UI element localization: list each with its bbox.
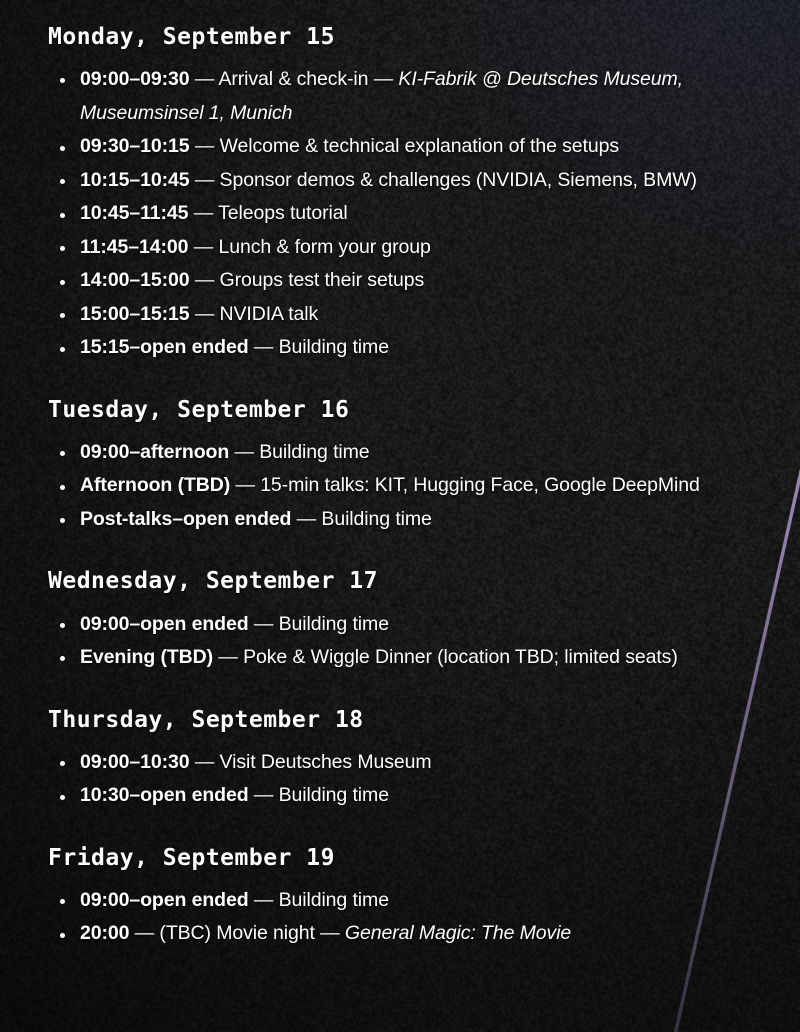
day-section-friday: Friday, September 19 09:00–open ended — … (48, 843, 766, 951)
item-text: NVIDIA talk (220, 303, 319, 325)
item-separator: — (188, 236, 218, 258)
list-item: 09:00–10:30 — Visit Deutsches Museum (48, 746, 766, 780)
day-section-wednesday: Wednesday, September 17 09:00–open ended… (48, 566, 766, 674)
item-time: 09:00–open ended (80, 889, 249, 911)
item-text: Groups test their setups (220, 269, 425, 291)
item-time: 09:00–open ended (80, 613, 249, 635)
item-text: Teleops tutorial (218, 202, 348, 224)
list-item: 09:00–open ended — Building time (48, 884, 766, 918)
list-item: 09:30–10:15 — Welcome & technical explan… (48, 130, 766, 164)
item-separator: — (249, 336, 279, 358)
day-items-list: 09:00–10:30 — Visit Deutsches Museum 10:… (48, 746, 766, 813)
item-separator: — (190, 68, 219, 90)
item-time: 09:00–10:30 (80, 751, 190, 773)
item-time: 09:00–09:30 (80, 68, 190, 90)
day-items-list: 09:00–afternoon — Building time Afternoo… (48, 436, 766, 537)
list-item: 09:00–afternoon — Building time (48, 436, 766, 470)
day-items-list: 09:00–open ended — Building time Evening… (48, 608, 766, 675)
day-section-tuesday: Tuesday, September 16 09:00–afternoon — … (48, 395, 766, 537)
item-time: 09:30–10:15 (80, 135, 190, 157)
list-item: 10:45–11:45 — Teleops tutorial (48, 197, 766, 231)
item-time: 10:15–10:45 (80, 169, 190, 191)
item-text: Building time (279, 613, 389, 635)
item-text: Sponsor demos & challenges (NVIDIA, Siem… (220, 169, 697, 191)
item-text: Visit Deutsches Museum (220, 751, 432, 773)
item-text: Building time (259, 441, 369, 463)
list-item: Evening (TBD) — Poke & Wiggle Dinner (lo… (48, 641, 766, 675)
item-separator: — (190, 169, 220, 191)
item-text: Poke & Wiggle Dinner (location TBD; limi… (243, 646, 678, 668)
day-heading: Friday, September 19 (48, 843, 766, 874)
item-text: (TBC) Movie night — (159, 922, 344, 944)
item-time: Post-talks–open ended (80, 508, 291, 530)
item-separator: — (213, 646, 243, 668)
list-item: 10:30–open ended — Building time (48, 779, 766, 813)
list-item: 20:00 — (TBC) Movie night — General Magi… (48, 917, 766, 951)
list-item: 09:00–09:30 — Arrival & check-in — KI-Fa… (48, 63, 766, 130)
schedule-content: Monday, September 15 09:00–09:30 — Arriv… (0, 0, 800, 951)
day-items-list: 09:00–open ended — Building time 20:00 —… (48, 884, 766, 951)
day-section-monday: Monday, September 15 09:00–09:30 — Arriv… (48, 22, 766, 365)
item-time: 10:30–open ended (80, 784, 249, 806)
item-separator: — (190, 269, 220, 291)
item-time: 15:15–open ended (80, 336, 249, 358)
item-text: Building time (279, 784, 389, 806)
day-heading: Thursday, September 18 (48, 705, 766, 736)
list-item: 10:15–10:45 — Sponsor demos & challenges… (48, 164, 766, 198)
day-heading: Wednesday, September 17 (48, 566, 766, 597)
item-separator: — (129, 922, 159, 944)
item-separator: — (190, 751, 220, 773)
item-time: Evening (TBD) (80, 646, 213, 668)
item-text: 15-min talks: KIT, Hugging Face, Google … (260, 474, 700, 496)
item-time: 14:00–15:00 (80, 269, 190, 291)
item-text: Building time (279, 336, 389, 358)
list-item: 15:15–open ended — Building time (48, 331, 766, 365)
item-separator: — (249, 613, 279, 635)
item-separator: — (249, 889, 279, 911)
item-separator: — (230, 474, 260, 496)
item-time: 15:00–15:15 (80, 303, 190, 325)
item-text: Arrival & check-in — (218, 68, 398, 90)
item-emphasis: General Magic: The Movie (345, 922, 571, 944)
item-text: Building time (279, 889, 389, 911)
item-separator: — (190, 303, 220, 325)
item-separator: — (188, 202, 218, 224)
item-time: Afternoon (TBD) (80, 474, 230, 496)
day-heading: Monday, September 15 (48, 22, 766, 53)
item-separator: — (249, 784, 279, 806)
item-time: 20:00 (80, 922, 129, 944)
item-time: 10:45–11:45 (80, 202, 188, 224)
item-separator: — (291, 508, 321, 530)
list-item: 11:45–14:00 — Lunch & form your group (48, 231, 766, 265)
list-item: Afternoon (TBD) — 15-min talks: KIT, Hug… (48, 469, 766, 503)
item-time: 09:00–afternoon (80, 441, 229, 463)
list-item: 09:00–open ended — Building time (48, 608, 766, 642)
item-separator: — (190, 135, 220, 157)
item-separator: — (229, 441, 259, 463)
item-text: Building time (321, 508, 431, 530)
list-item: 15:00–15:15 — NVIDIA talk (48, 298, 766, 332)
day-heading: Tuesday, September 16 (48, 395, 766, 426)
item-text: Welcome & technical explanation of the s… (220, 135, 619, 157)
day-items-list: 09:00–09:30 — Arrival & check-in — KI-Fa… (48, 63, 766, 365)
list-item: 14:00–15:00 — Groups test their setups (48, 264, 766, 298)
list-item: Post-talks–open ended — Building time (48, 503, 766, 537)
day-section-thursday: Thursday, September 18 09:00–10:30 — Vis… (48, 705, 766, 813)
item-time: 11:45–14:00 (80, 236, 188, 258)
item-text: Lunch & form your group (218, 236, 430, 258)
